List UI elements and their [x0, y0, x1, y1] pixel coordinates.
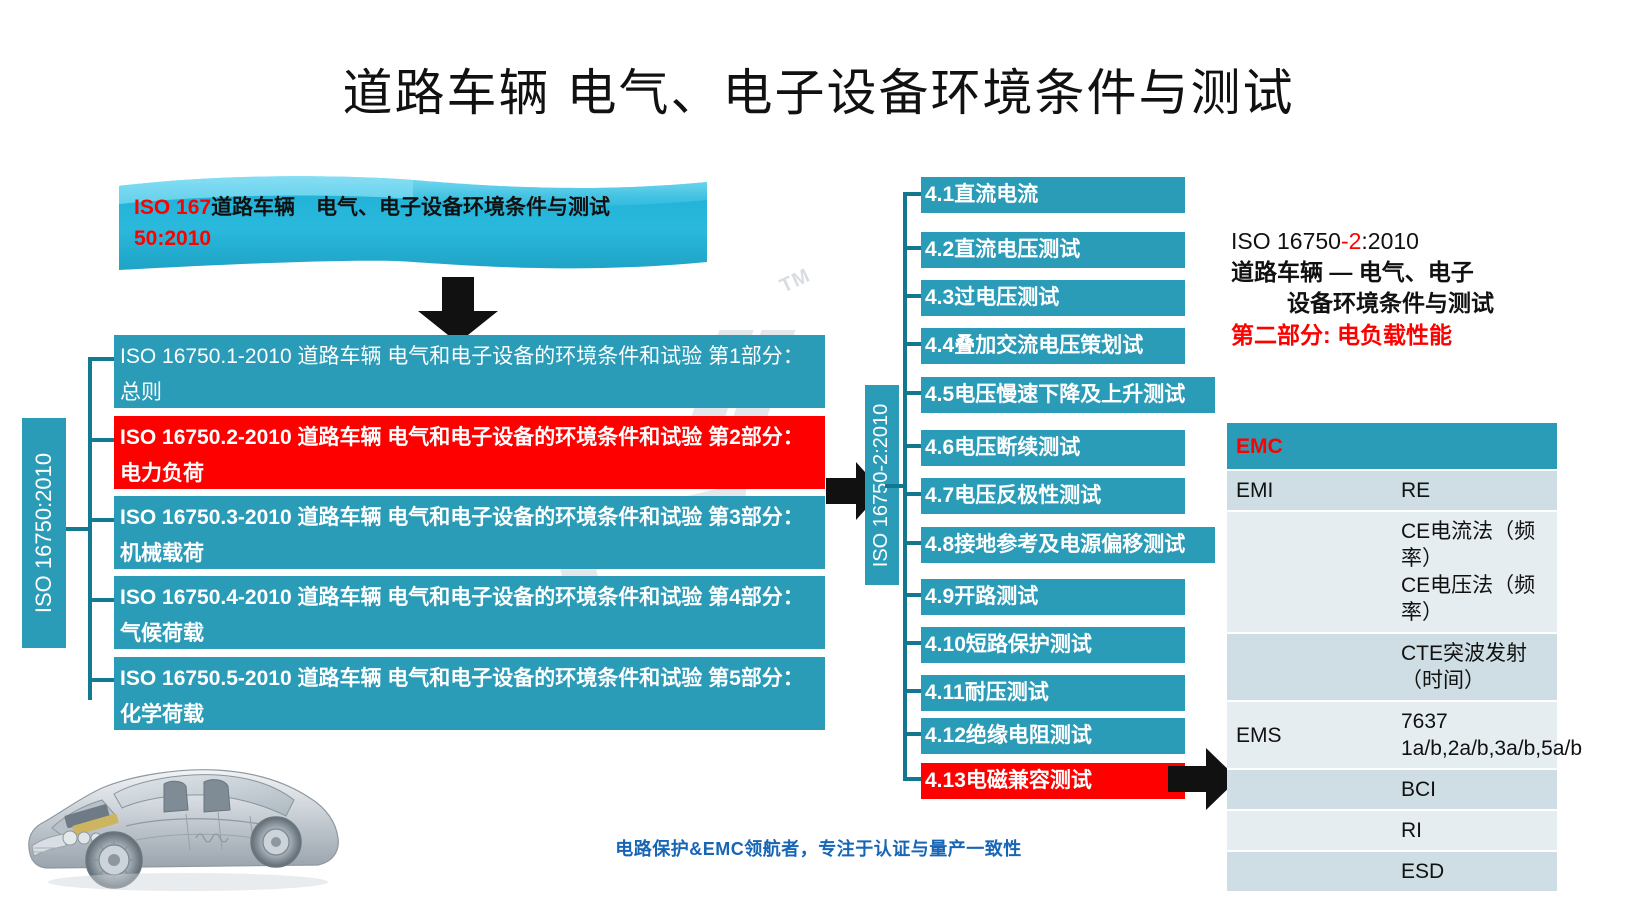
- test-item-label: 4.9开路测试: [925, 585, 1038, 608]
- test-item[interactable]: 4.8接地参考及电源偏移测试: [921, 527, 1215, 563]
- iso-16750-vertical-label-text: ISO 16750:2010: [31, 453, 57, 613]
- emc-row-label: [1227, 511, 1392, 633]
- test-item-label: 4.5电压慢速下降及上升测试: [925, 383, 1185, 406]
- table-row[interactable]: CTE突波发射（时间）: [1227, 633, 1557, 701]
- emc-row-value: 7637 1a/b,2a/b,3a/b,5a/b: [1392, 701, 1557, 769]
- test-item[interactable]: 4.9开路测试: [921, 579, 1185, 615]
- table-row[interactable]: BCI: [1227, 769, 1557, 810]
- iso-desc-line-1: 道路车辆 — 电气、电子: [1231, 257, 1631, 288]
- test-item[interactable]: 4.4叠加交流电压策划试: [921, 328, 1185, 364]
- emc-row-value: CE电流法（频率） CE电压法（频率）: [1392, 511, 1557, 633]
- banner-red-suffix: 50:2010: [134, 227, 211, 250]
- test-item[interactable]: 4.2直流电压测试: [921, 232, 1185, 268]
- iso-desc-line-3: 第二部分: 电负载性能: [1231, 319, 1631, 352]
- iso-code-part-red: -2: [1341, 228, 1361, 254]
- iso-part-box[interactable]: ISO 16750.2-2010 道路车辆 电气和电子设备的环境条件和试验 第2…: [114, 416, 825, 489]
- banner-black-text: 道路车辆 电气、电子设备环境条件与测试: [211, 196, 610, 219]
- emc-row-value: BCI: [1392, 769, 1557, 810]
- bracket-stub: [903, 391, 923, 395]
- test-item[interactable]: 4.3过电压测试: [921, 280, 1185, 316]
- bracket-stub: [903, 777, 923, 781]
- iso-part-box[interactable]: ISO 16750.3-2010 道路车辆 电气和电子设备的环境条件和试验 第3…: [114, 496, 825, 569]
- iso-part-box-text: ISO 16750.3-2010 道路车辆 电气和电子设备的环境条件和试验 第3…: [120, 506, 804, 565]
- test-item-label: 4.3过电压测试: [925, 286, 1059, 309]
- test-item-label: 4.12绝缘电阻测试: [925, 724, 1092, 747]
- bracket-stub: [903, 294, 923, 298]
- bracket-stub: [903, 444, 923, 448]
- test-item-label: 4.8接地参考及电源偏移测试: [925, 533, 1185, 556]
- test-item[interactable]: 4.10短路保护测试: [921, 627, 1185, 663]
- test-item-label: 4.6电压断续测试: [925, 436, 1080, 459]
- test-item[interactable]: 4.5电压慢速下降及上升测试: [921, 377, 1215, 413]
- iso-part-box[interactable]: ISO 16750.1-2010 道路车辆 电气和电子设备的环境条件和试验 第1…: [114, 335, 825, 408]
- bracket-connector-left: [66, 527, 90, 531]
- bracket-stub: [88, 438, 116, 442]
- bracket-stub: [903, 492, 923, 496]
- bracket-stub: [903, 246, 923, 250]
- iso-part-box-text: ISO 16750.5-2010 道路车辆 电气和电子设备的环境条件和试验 第5…: [120, 667, 804, 726]
- bracket-stub: [903, 593, 923, 597]
- test-item[interactable]: 4.1直流电流: [921, 177, 1185, 213]
- bracket-stub: [903, 192, 923, 196]
- iso-code-part-a: ISO 16750: [1231, 228, 1341, 254]
- page-title: 道路车辆 电气、电子设备环境条件与测试: [0, 62, 1637, 124]
- test-item[interactable]: 4.13电磁兼容测试: [921, 763, 1185, 799]
- test-item-label: 4.10短路保护测试: [925, 633, 1092, 656]
- bracket-stub: [88, 357, 116, 361]
- test-item[interactable]: 4.6电压断续测试: [921, 430, 1185, 466]
- emc-row-label: [1227, 633, 1392, 701]
- iso-16750-2-code: ISO 16750-2:2010: [1231, 225, 1631, 257]
- slide-canvas: TM 道路车辆 电气、电子设备环境条件与测试 ISO 1: [0, 0, 1637, 924]
- bracket-stub: [903, 732, 923, 736]
- bracket-stub: [903, 541, 923, 545]
- iso-code-part-b: :2010: [1361, 228, 1419, 254]
- bracket-connector-middle: [885, 484, 905, 488]
- iso-part-box-text: ISO 16750.1-2010 道路车辆 电气和电子设备的环境条件和试验 第1…: [120, 345, 804, 404]
- test-item-label: 4.4叠加交流电压策划试: [925, 334, 1143, 357]
- emc-row-value: CTE突波发射（时间）: [1392, 633, 1557, 701]
- test-item-label: 4.11耐压测试: [925, 681, 1049, 704]
- emc-table-header-row: EMC: [1227, 423, 1557, 470]
- bracket-stub: [903, 689, 923, 693]
- banner-text: ISO 167道路车辆 电气、电子设备环境条件与测试 50:2010: [134, 192, 694, 254]
- test-item[interactable]: 4.12绝缘电阻测试: [921, 718, 1185, 754]
- iso-16750-2-description: ISO 16750-2:2010 道路车辆 — 电气、电子 设备环境条件与测试 …: [1231, 225, 1631, 352]
- emc-row-label: EMI: [1227, 470, 1392, 511]
- iso-part-box[interactable]: ISO 16750.5-2010 道路车辆 电气和电子设备的环境条件和试验 第5…: [114, 657, 825, 730]
- iso-part-box[interactable]: ISO 16750.4-2010 道路车辆 电气和电子设备的环境条件和试验 第4…: [114, 576, 825, 649]
- bracket-stub: [88, 598, 116, 602]
- iso-desc-line-2: 设备环境条件与测试: [1231, 288, 1631, 319]
- iso-part-box-text: ISO 16750.4-2010 道路车辆 电气和电子设备的环境条件和试验 第4…: [120, 586, 804, 645]
- table-row[interactable]: CE电流法（频率） CE电压法（频率）: [1227, 511, 1557, 633]
- bracket-stub: [88, 518, 116, 522]
- bracket-stub: [903, 342, 923, 346]
- bracket-stub: [88, 678, 116, 682]
- test-item-label: 4.2直流电压测试: [925, 238, 1080, 261]
- watermark-tm-icon: TM: [777, 265, 815, 299]
- footer-slogan: 电路保护&EMC领航者，专注于认证与量产一致性: [0, 835, 1637, 861]
- table-row[interactable]: EMS 7637 1a/b,2a/b,3a/b,5a/b: [1227, 701, 1557, 769]
- emc-row-label: EMS: [1227, 701, 1392, 769]
- banner-red-prefix: ISO 167: [134, 196, 211, 219]
- test-item[interactable]: 4.7电压反极性测试: [921, 478, 1185, 514]
- test-item[interactable]: 4.11耐压测试: [921, 675, 1185, 711]
- test-item-label: 4.13电磁兼容测试: [925, 769, 1092, 792]
- table-row[interactable]: EMI RE: [1227, 470, 1557, 511]
- emc-table-header-cell: EMC: [1227, 423, 1557, 470]
- test-item-label: 4.7电压反极性测试: [925, 484, 1101, 507]
- test-item-label: 4.1直流电流: [925, 183, 1038, 206]
- iso-16750-vertical-label: ISO 16750:2010: [22, 418, 66, 648]
- emc-row-label: [1227, 769, 1392, 810]
- iso-part-box-text: ISO 16750.2-2010 道路车辆 电气和电子设备的环境条件和试验 第2…: [120, 426, 804, 485]
- emc-table: EMC EMI RE CE电流法（频率） CE电压法（频率） CTE突波发射（时…: [1227, 423, 1557, 893]
- emc-row-value: RE: [1392, 470, 1557, 511]
- car-cutaway-image: [18, 742, 348, 902]
- ribbon-banner: ISO 167道路车辆 电气、电子设备环境条件与测试 50:2010: [113, 170, 711, 282]
- bracket-stub: [903, 641, 923, 645]
